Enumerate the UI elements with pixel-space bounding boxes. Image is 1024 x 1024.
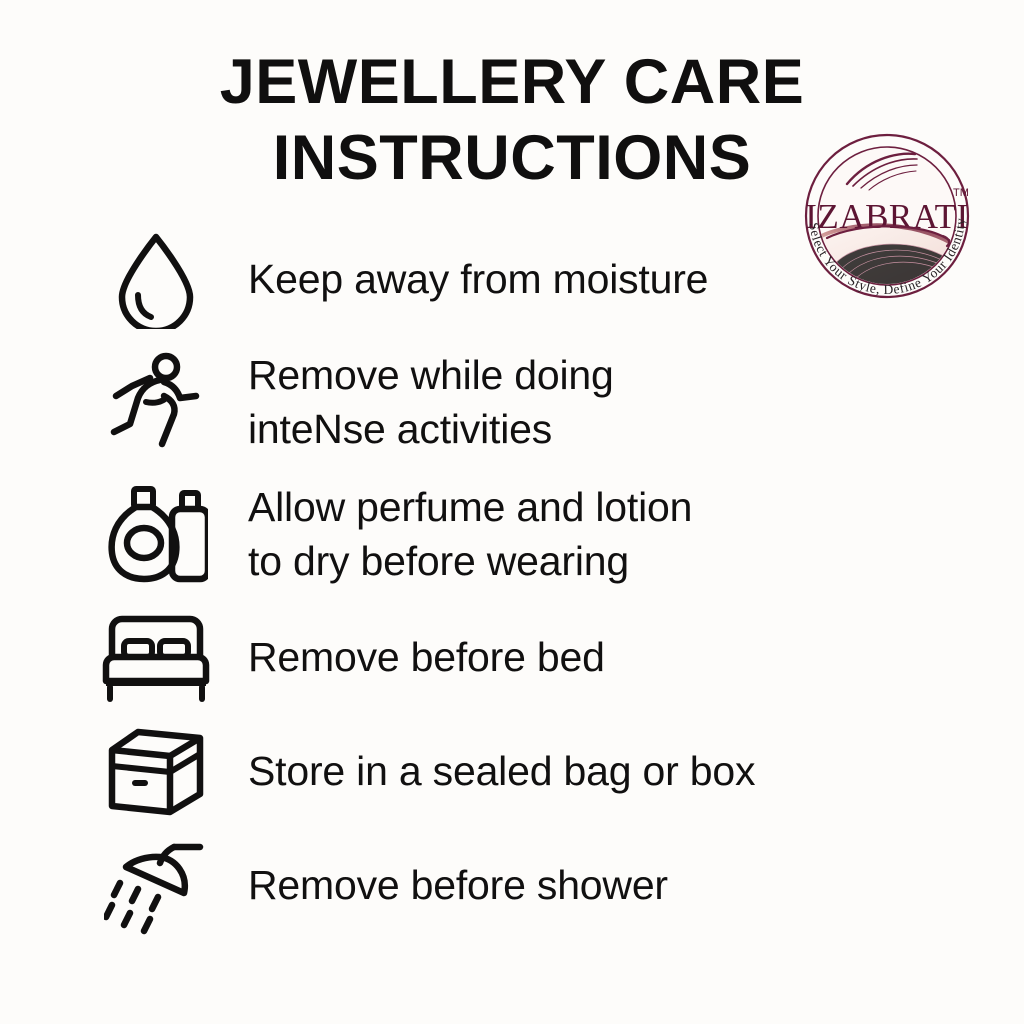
instruction-label: Remove before bed — [248, 631, 605, 684]
instruction-label: Remove before shower — [248, 859, 668, 912]
instruction-row: Remove while doing inteNse activities — [0, 336, 1024, 468]
perfume-lotion-bottles-icon — [96, 482, 216, 586]
shower-head-icon — [96, 833, 216, 937]
instructions-list: Keep away from moisture Remove while doi… — [0, 222, 1024, 942]
logo-wordmark: IZABRATI — [805, 197, 968, 236]
instruction-label: Remove while doing inteNse activities — [248, 348, 614, 456]
title-line-1: JEWELLERY CARE — [0, 44, 1024, 120]
instruction-row: Allow perfume and lotion to dry before w… — [0, 468, 1024, 600]
instruction-label: Store in a sealed bag or box — [248, 745, 755, 798]
instruction-row: Store in a sealed bag or box — [0, 714, 1024, 828]
running-person-icon — [96, 350, 216, 454]
instruction-label: Allow perfume and lotion to dry before w… — [248, 480, 692, 588]
water-drop-icon — [96, 227, 216, 331]
logo-trademark: TM — [953, 187, 969, 199]
jewellery-care-card: JEWELLERY CARE INSTRUCTIONS — [0, 0, 1024, 1024]
storage-box-icon — [96, 719, 216, 823]
izabrati-logo: IZABRATI TM Select Your Style, Define Yo… — [783, 112, 991, 320]
bed-icon — [96, 605, 216, 709]
instruction-row: Remove before shower — [0, 828, 1024, 942]
instruction-row: Remove before bed — [0, 600, 1024, 714]
instruction-label: Keep away from moisture — [248, 253, 708, 306]
